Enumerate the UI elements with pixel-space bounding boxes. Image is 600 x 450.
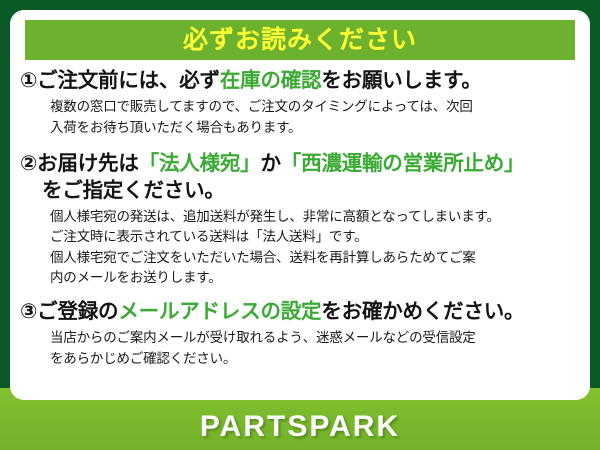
body-line: 入荷をお待ち頂いただく場合もあります。: [50, 118, 582, 139]
body-line: 当店からのご案内メールが受け取れるよう、迷惑メールなどの受信設定: [50, 328, 582, 349]
notice-item-1-heading: ①ご注文前には、必ず在庫の確認をお願いします。: [20, 68, 582, 94]
notice-item-2-body: 個人様宅宛の発送は、追加送料が発生し、非常に高額となってしまいます。 ご注文時に…: [20, 207, 582, 289]
notice-item-2-heading-line2: をご指定ください。: [20, 178, 582, 204]
heading-segment: ①ご注文前には、必ず: [20, 69, 220, 92]
notice-item-2-heading: ②お届け先は「法人様宛」か「西濃運輸の営業所止め」: [20, 151, 582, 177]
notice-frame: 必ずお読みください ①ご注文前には、必ず在庫の確認をお願いします。 複数の窓口で…: [0, 0, 600, 450]
heading-highlight: 在庫の確認: [220, 69, 322, 92]
body-line: ご注文時に表示されている送料は「法人送料」です。: [50, 227, 582, 248]
heading-segment: ③ご登録の: [20, 300, 118, 323]
notice-header-bar: 必ずお読みください: [25, 20, 575, 60]
notice-items: ①ご注文前には、必ず在庫の確認をお願いします。 複数の窓口で販売してますので、ご…: [10, 68, 590, 369]
notice-card: 必ずお読みください ①ご注文前には、必ず在庫の確認をお願いします。 複数の窓口で…: [10, 10, 590, 400]
body-line: をあらかじめご確認ください。: [50, 349, 582, 370]
page-title: 必ずお読みください: [183, 28, 417, 53]
heading-segment: ②お届け先は: [20, 152, 139, 175]
heading-segment: をお願いします。: [321, 69, 481, 92]
notice-item-1: ①ご注文前には、必ず在庫の確認をお願いします。 複数の窓口で販売してますので、ご…: [20, 68, 582, 138]
heading-highlight: メールアドレスの設定: [118, 300, 321, 323]
notice-item-3: ③ご登録のメールアドレスの設定をお確かめください。 当店からのご案内メールが受け…: [20, 299, 582, 369]
body-line: 内のメールをお送りします。: [50, 268, 582, 289]
notice-item-2: ②お届け先は「法人様宛」か「西濃運輸の営業所止め」 をご指定ください。 個人様宅…: [20, 151, 582, 289]
body-line: 複数の窓口で販売してますので、ご注文のタイミングによっては、次回: [50, 97, 582, 118]
notice-item-3-heading: ③ご登録のメールアドレスの設定をお確かめください。: [20, 299, 582, 325]
heading-segment: をご指定ください。: [42, 179, 225, 202]
heading-segment: か: [260, 152, 280, 175]
heading-highlight: 「法人様宛」: [139, 152, 261, 175]
heading-segment: をお確かめください。: [321, 300, 524, 323]
notice-item-1-body: 複数の窓口で販売してますので、ご注文のタイミングによっては、次回 入荷をお待ち頂…: [20, 97, 582, 138]
body-line: 個人様宅宛の発送は、追加送料が発生し、非常に高額となってしまいます。: [50, 207, 582, 228]
heading-highlight: 「西濃運輸の営業所止め」: [281, 152, 525, 175]
body-line: 個人様宅宛でご注文をいただいた場合、送料を再計算しあらためてご案: [50, 248, 582, 269]
brand-logo-text: PARTSPARK: [0, 412, 600, 442]
notice-item-3-body: 当店からのご案内メールが受け取れるよう、迷惑メールなどの受信設定 をあらかじめご…: [20, 328, 582, 369]
